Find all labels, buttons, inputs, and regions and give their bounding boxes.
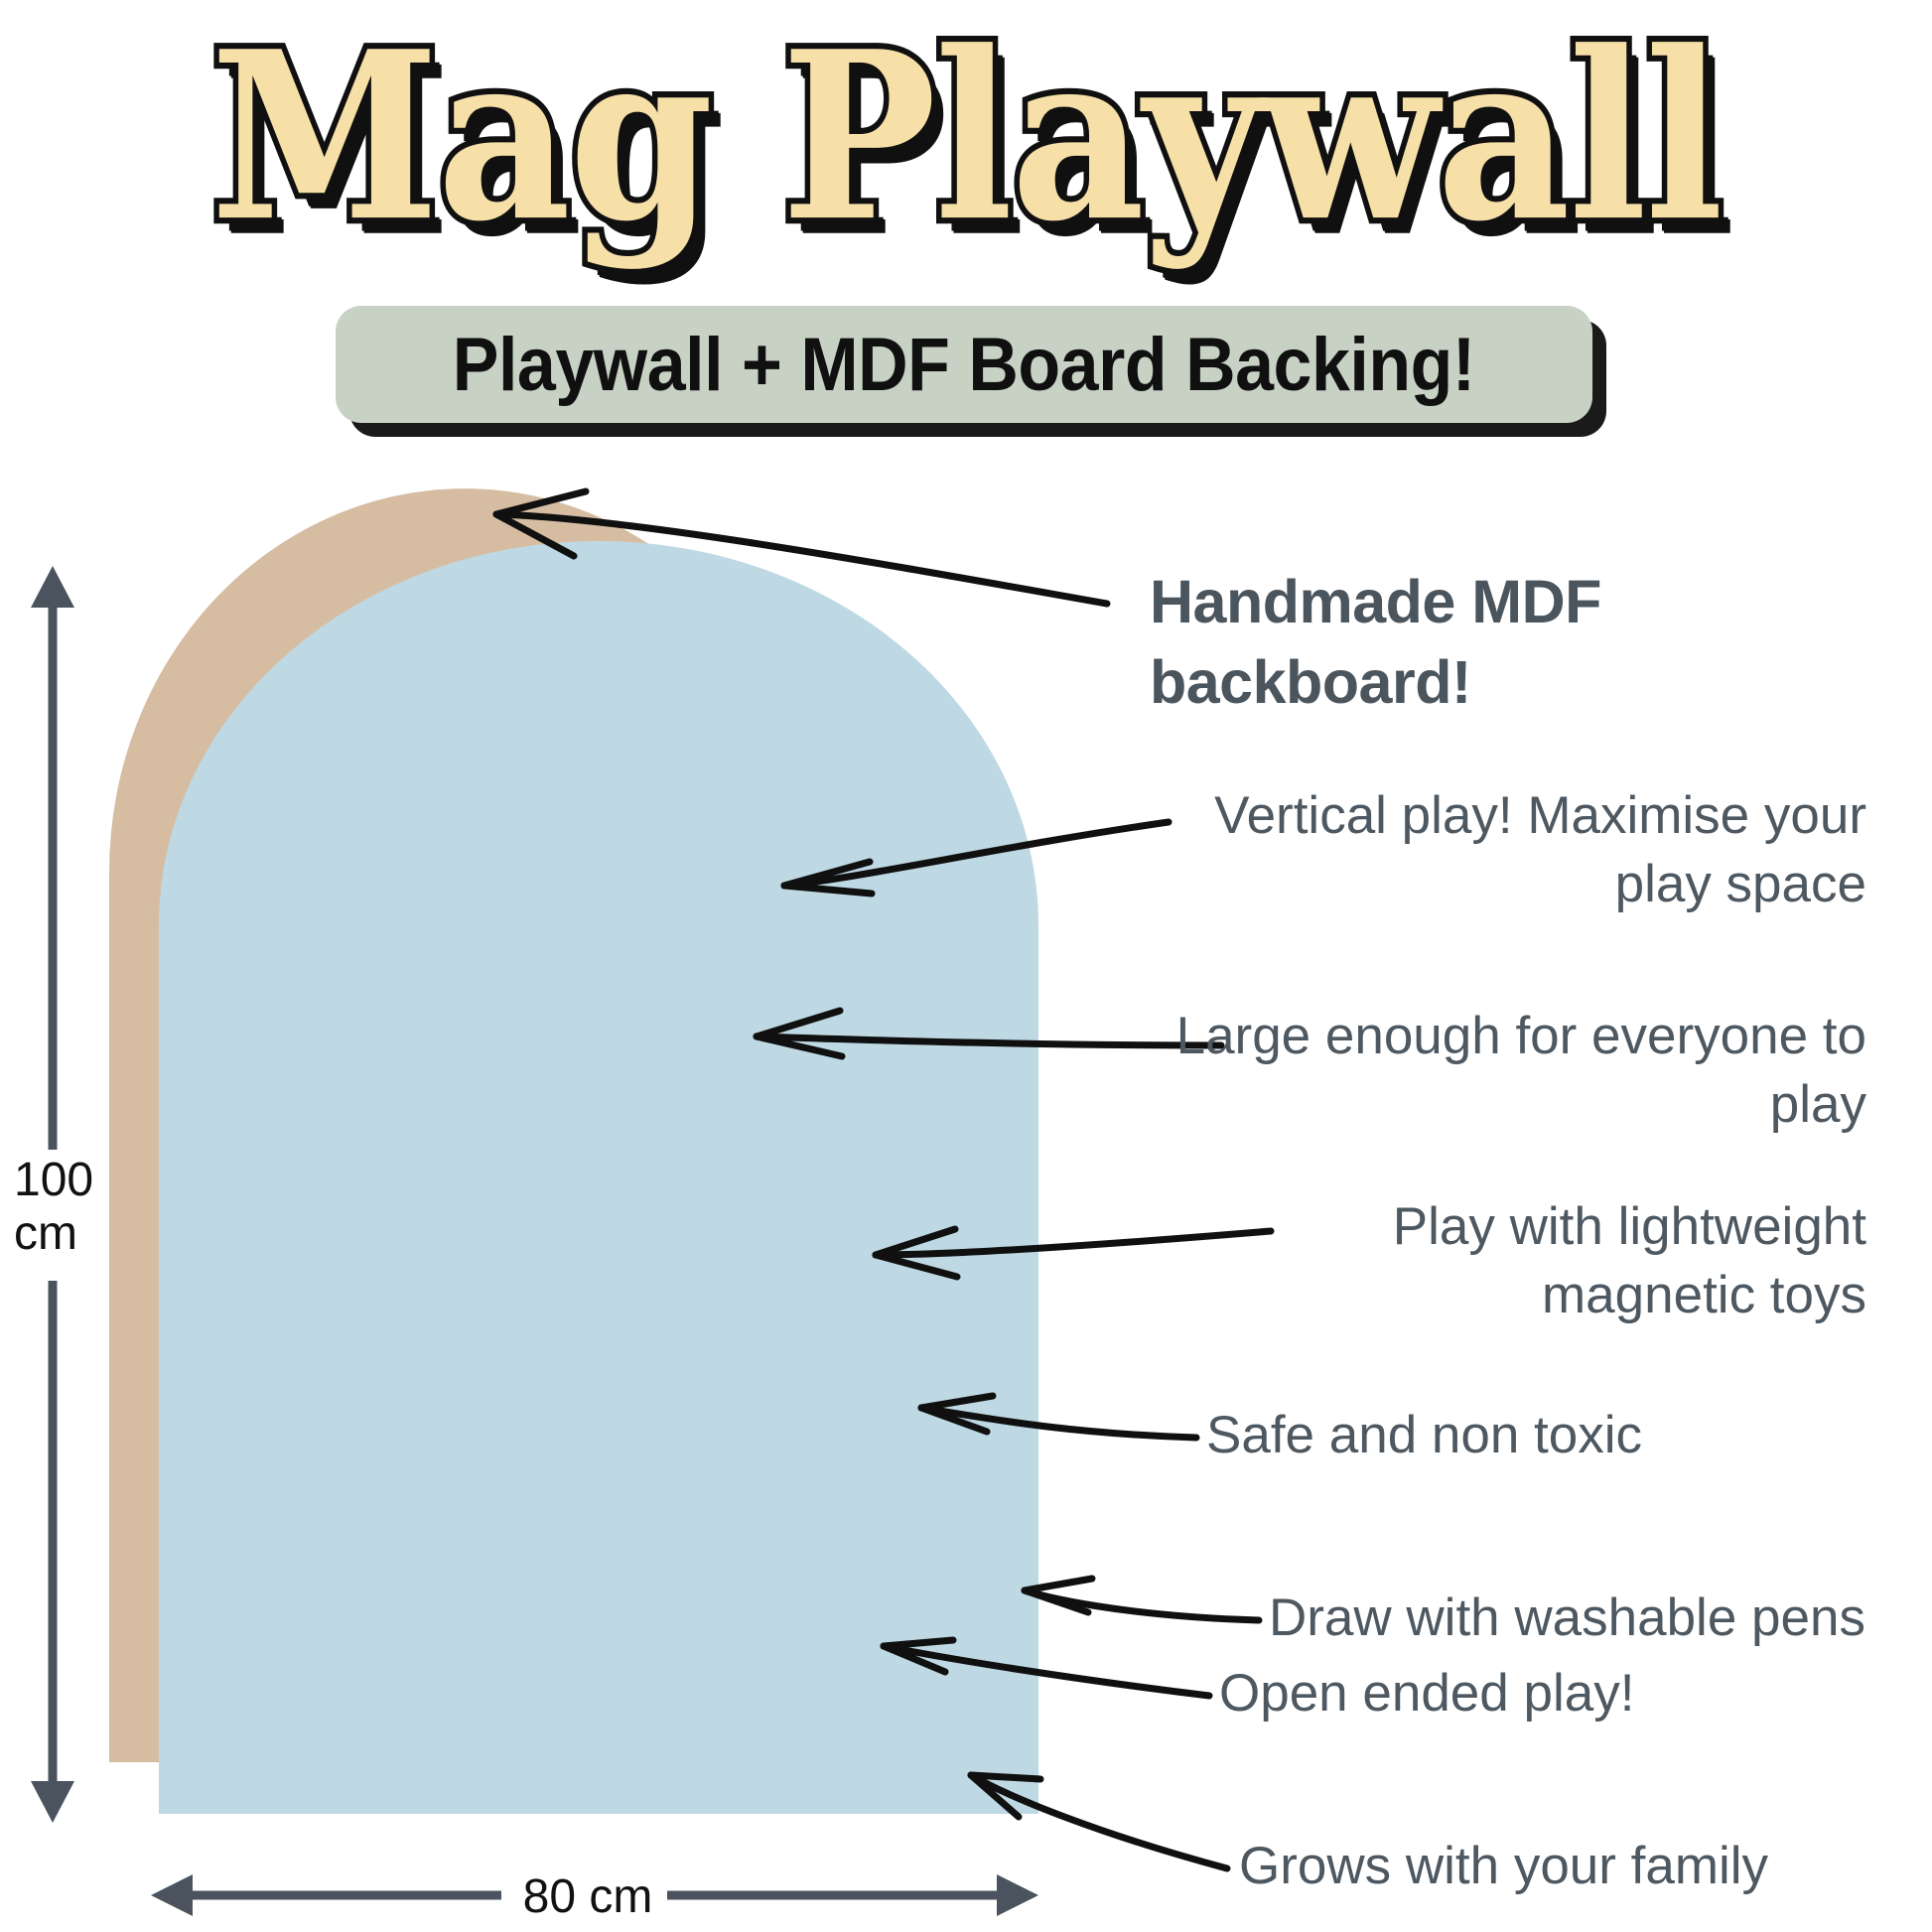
height-dimension-unit: cm <box>14 1207 103 1261</box>
callout-headline: Handmade MDF backboard! <box>1150 562 1765 722</box>
height-dimension-value: 100 <box>14 1154 103 1207</box>
callout-magnetic-toys: Play with lightweight magnetic toys <box>1172 1193 1866 1330</box>
width-dimension-label: 80 cm <box>508 1870 667 1924</box>
playwall-arch <box>159 541 1038 1814</box>
width-arrowhead-left <box>151 1874 193 1916</box>
height-arrowhead-top <box>31 566 74 608</box>
product-infographic: Mag Playwall Playwall + MDF Board Backin… <box>0 0 1932 1932</box>
height-dimension-label: 100 cm <box>14 1154 103 1261</box>
callout-safe-non-toxic: Safe and non toxic <box>1206 1402 1901 1470</box>
callout-vertical-play: Vertical play! Maximise your play space <box>1112 782 1866 919</box>
callout-washable-pens: Draw with washable pens <box>1269 1585 1932 1653</box>
height-arrowhead-bottom <box>31 1781 74 1823</box>
width-arrowhead-right <box>997 1874 1038 1916</box>
arrow-head-gw-a <box>971 1775 1040 1779</box>
callout-open-ended-play: Open ended play! <box>1219 1660 1914 1728</box>
callout-large-enough: Large enough for everyone to play <box>1172 1003 1866 1140</box>
callout-grows-with-family: Grows with your family <box>1239 1833 1932 1901</box>
